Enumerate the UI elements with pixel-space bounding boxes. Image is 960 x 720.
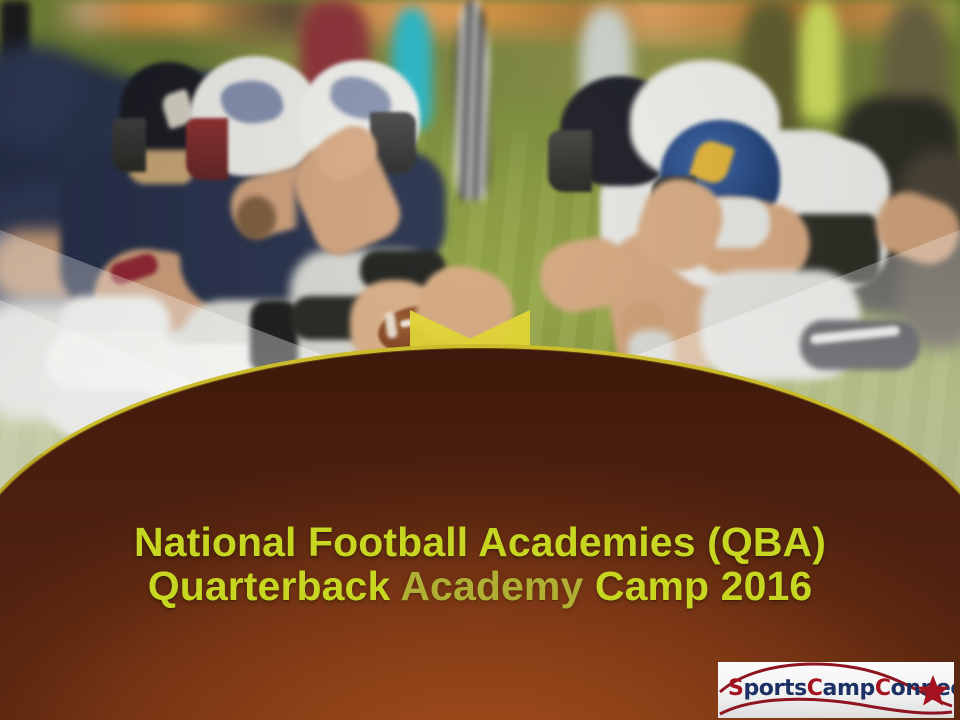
title-line-1: National Football Academies (QBA) bbox=[0, 520, 960, 564]
title-line-2-part-3: Camp 2016 bbox=[583, 563, 812, 609]
title-block: National Football Academies (QBA) Quarte… bbox=[0, 520, 960, 609]
logo-seg-3: amp bbox=[823, 676, 875, 701]
title-line-2-part-2: Academy bbox=[400, 563, 583, 609]
title-line-2: Quarterback Academy Camp 2016 bbox=[0, 564, 960, 608]
star-icon bbox=[916, 674, 950, 708]
logo-seg-4: C bbox=[875, 676, 891, 701]
logo-seg-2: C bbox=[807, 676, 823, 701]
logo-seg-0: S bbox=[728, 676, 743, 701]
title-line-2-part-1: Quarterback bbox=[148, 563, 401, 609]
title-slide: National Football Academies (QBA) Quarte… bbox=[0, 0, 960, 720]
logo-seg-1: ports bbox=[743, 676, 806, 701]
sponsor-logo[interactable]: SportsCampConnection bbox=[718, 662, 954, 718]
